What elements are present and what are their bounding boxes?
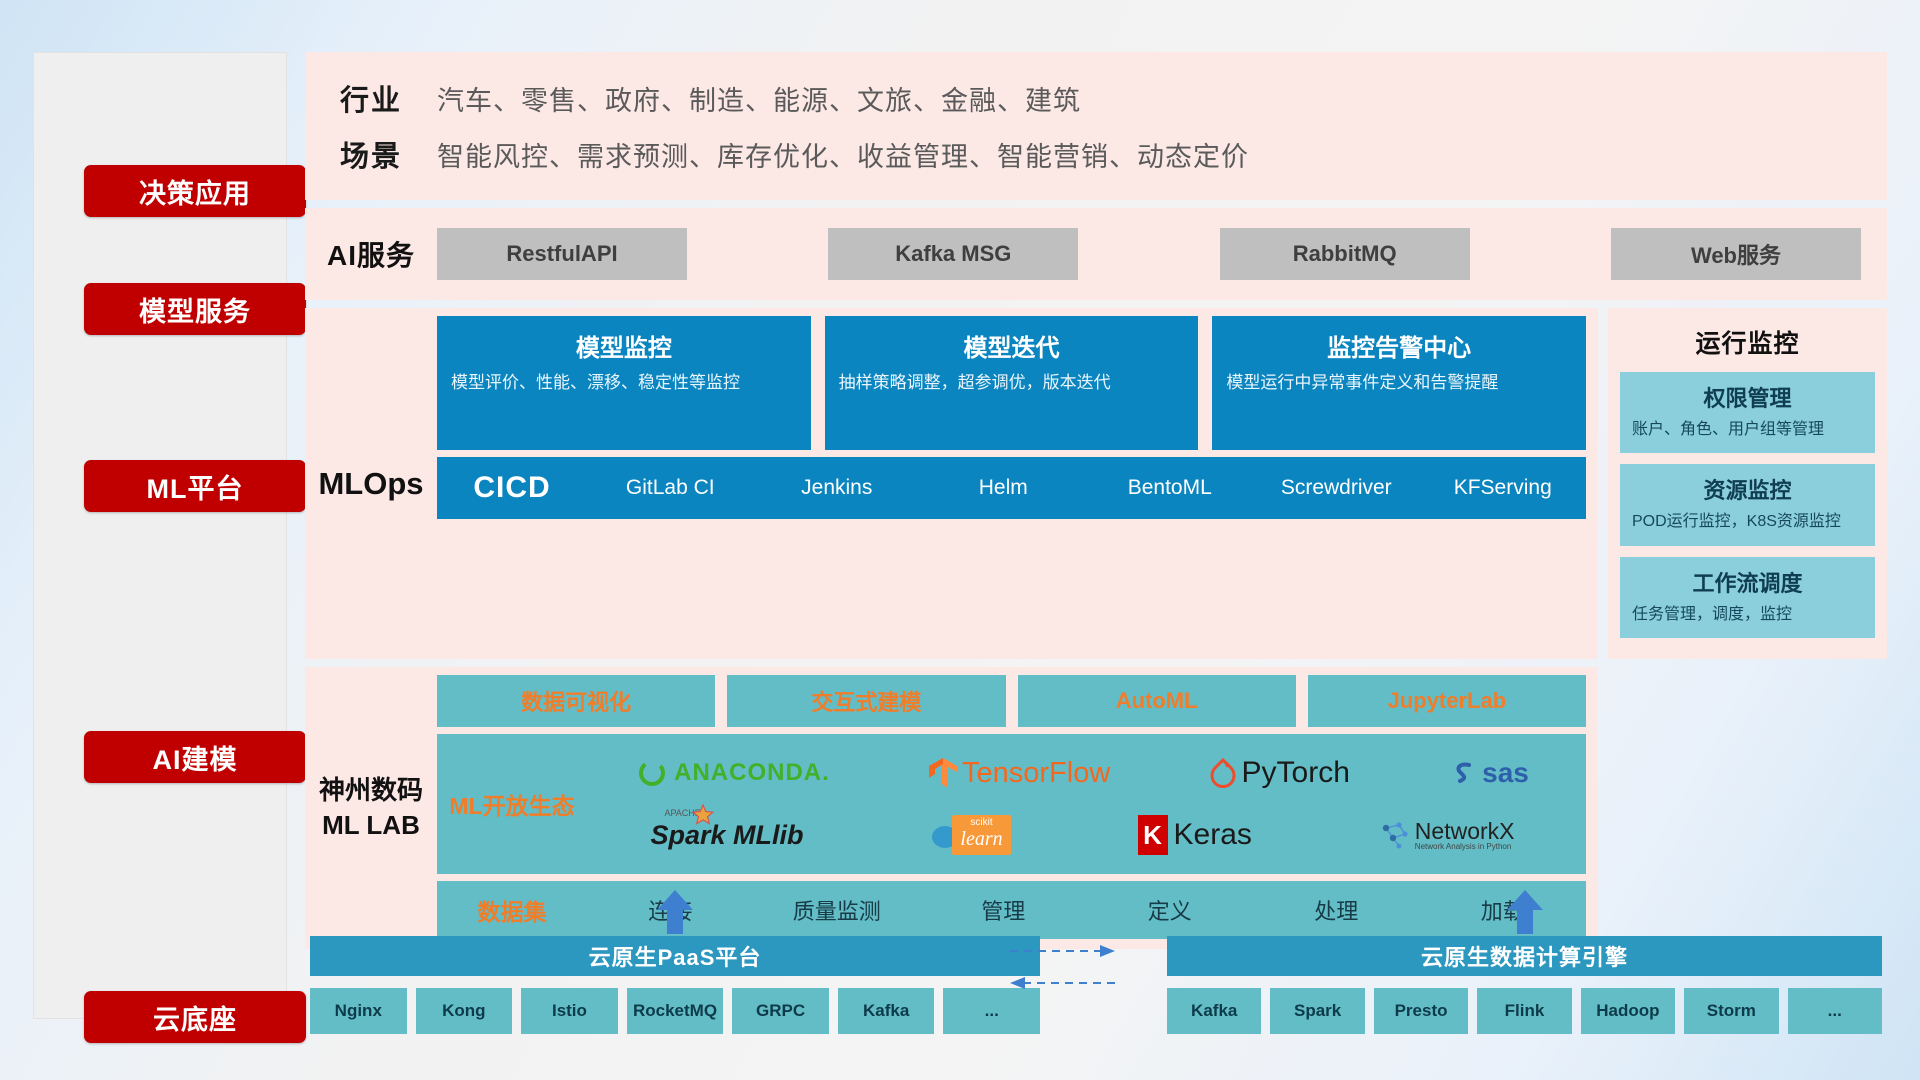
card-desc: 模型评价、性能、漂移、稳定性等监控 (451, 371, 797, 396)
keras-logo: K Keras (1138, 815, 1252, 855)
cloud-data-engine-column: 云原生数据计算引擎 Kafka Spark Presto Flink Hadoo… (1167, 936, 1882, 1034)
ml-ecosystem-logos: ANACONDA. TensorFlow (587, 744, 1586, 864)
main-column: 行业 汽车、零售、政府、制造、能源、文旅、金融、建筑 场景 智能风控、需求预测、… (305, 52, 1887, 949)
networkx-text: NetworkX Network Analysis in Python (1415, 820, 1515, 851)
industry-row: 行业 汽车、零售、政府、制造、能源、文旅、金融、建筑 (305, 70, 1887, 126)
spark-star-icon (692, 804, 714, 826)
card-desc: 模型运行中异常事件定义和告警提醒 (1226, 371, 1572, 396)
scenario-value: 智能风控、需求预测、库存优化、收益管理、智能营销、动态定价 (437, 135, 1249, 174)
card-title: 权限管理 (1632, 381, 1863, 413)
layer-tag-cloud-base[interactable]: 云底座 (84, 991, 306, 1043)
scenario-key: 场景 (305, 133, 437, 175)
cloud-paas-chips: Nginx Kong Istio RocketMQ GRPC Kafka ... (310, 988, 1040, 1034)
spark-mllib-label: Spark MLlib (650, 820, 803, 851)
bidirectional-link (1010, 935, 1115, 995)
scenario-row: 场景 智能风控、需求预测、库存优化、收益管理、智能营销、动态定价 (305, 126, 1887, 182)
card-desc: 任务管理，调度，监控 (1632, 604, 1863, 626)
layer-tag-ml-platform[interactable]: ML平台 (84, 460, 306, 512)
ml-ecosystem-label: ML开放生态 (437, 787, 587, 821)
diagram-canvas: 决策应用 模型服务 ML平台 AI建模 云底座 行业 汽车、零售、政府、制造、能… (0, 0, 1920, 1080)
logo-row-2: APACHE Spark MLlib (587, 806, 1578, 864)
pytorch-logo: PyTorch (1209, 756, 1350, 790)
chip-kafka-right[interactable]: Kafka (1167, 988, 1261, 1034)
chip-nginx[interactable]: Nginx (310, 988, 407, 1034)
chip-grpc[interactable]: GRPC (732, 988, 829, 1034)
scikit-learn-logo: scikit learn (930, 815, 1010, 855)
industry-value: 汽车、零售、政府、制造、能源、文旅、金融、建筑 (437, 79, 1081, 118)
chip-kong[interactable]: Kong (416, 988, 513, 1034)
mlops-band: MLOps 模型监控 模型评价、性能、漂移、稳定性等监控 模型迭代 抽样策略调整… (305, 308, 1598, 659)
card-title: 工作流调度 (1632, 566, 1863, 598)
chip-istio[interactable]: Istio (521, 988, 618, 1034)
cicd-tool-bentoml[interactable]: BentoML (1087, 475, 1254, 501)
card-desc: 账户、角色、用户组等管理 (1632, 419, 1863, 441)
arrow-up-right (1505, 890, 1545, 934)
mlops-monitor-row: MLOps 模型监控 模型评价、性能、漂移、稳定性等监控 模型迭代 抽样策略调整… (305, 308, 1887, 659)
networkx-sublabel: Network Analysis in Python (1415, 843, 1515, 851)
ai-service-key: AI服务 (305, 234, 437, 274)
layer-tag-label: AI建模 (153, 738, 238, 777)
layer-tag-model-service[interactable]: 模型服务 (84, 283, 306, 335)
card-title: 模型监控 (451, 328, 797, 363)
tool-automl[interactable]: AutoML (1018, 675, 1296, 727)
logo-row-1: ANACONDA. TensorFlow (587, 744, 1578, 802)
cicd-tool-helm[interactable]: Helm (920, 475, 1087, 501)
scikit-orange-blob: scikit learn (952, 815, 1010, 855)
layer-tag-decision[interactable]: 决策应用 (84, 165, 306, 217)
ai-service-button-kafka[interactable]: Kafka MSG (828, 228, 1078, 280)
layer-label-rail: 决策应用 模型服务 ML平台 AI建模 云底座 (33, 52, 287, 1019)
keras-icon: K (1138, 815, 1168, 855)
monitor-card-resource[interactable]: 资源监控 POD运行监控，K8S资源监控 (1620, 464, 1875, 545)
ml-lab-tools: 数据可视化 交互式建模 AutoML JupyterLab (437, 675, 1586, 727)
mlops-cards: 模型监控 模型评价、性能、漂移、稳定性等监控 模型迭代 抽样策略调整，超参调优，… (437, 316, 1586, 450)
cloud-data-engine-bar[interactable]: 云原生数据计算引擎 (1167, 936, 1882, 976)
tool-jupyterlab[interactable]: JupyterLab (1308, 675, 1586, 727)
scikit-label: scikit (960, 817, 1002, 828)
layer-tag-ai-modeling[interactable]: AI建模 (84, 731, 306, 783)
ai-service-button-web[interactable]: Web服务 (1611, 228, 1861, 280)
industry-scenario-band: 行业 汽车、零售、政府、制造、能源、文旅、金融、建筑 场景 智能风控、需求预测、… (305, 52, 1887, 200)
ai-service-button-restful[interactable]: RestfulAPI (437, 228, 687, 280)
mlops-key: MLOps (305, 308, 437, 659)
tensorflow-icon (928, 756, 958, 790)
card-desc: POD运行监控，K8S资源监控 (1632, 511, 1863, 533)
cicd-tool-gitlab[interactable]: GitLab CI (587, 475, 754, 501)
chip-flink[interactable]: Flink (1477, 988, 1571, 1034)
card-title: 模型迭代 (839, 328, 1185, 363)
cloud-paas-column: 云原生PaaS平台 Nginx Kong Istio RocketMQ GRPC… (310, 936, 1040, 1034)
tool-data-visualization[interactable]: 数据可视化 (437, 675, 715, 727)
networkx-label: NetworkX (1415, 820, 1515, 843)
learn-label: learn (960, 828, 1002, 851)
arrow-up-left (655, 890, 695, 934)
anaconda-logo: ANACONDA. (636, 757, 830, 789)
spark-mllib-logo: APACHE Spark MLlib (650, 820, 803, 851)
cicd-tool-kfserving[interactable]: KFServing (1420, 475, 1587, 501)
keras-label: Keras (1174, 818, 1252, 852)
layer-tag-label: 云底座 (153, 998, 237, 1037)
mlops-card-model-monitor[interactable]: 模型监控 模型评价、性能、漂移、稳定性等监控 (437, 316, 811, 450)
chip-kafka-left[interactable]: Kafka (838, 988, 935, 1034)
layer-tag-label: 模型服务 (139, 290, 251, 329)
mlops-card-alert-center[interactable]: 监控告警中心 模型运行中异常事件定义和告警提醒 (1212, 316, 1586, 450)
cicd-tools: GitLab CI Jenkins Helm BentoML Screwdriv… (587, 475, 1586, 501)
ai-service-band: AI服务 RestfulAPI Kafka MSG RabbitMQ Web服务 (305, 208, 1887, 300)
runtime-monitor-title: 运行监控 (1620, 324, 1875, 360)
tool-interactive-modeling[interactable]: 交互式建模 (727, 675, 1005, 727)
tensorflow-label: TensorFlow (962, 757, 1110, 790)
chip-presto[interactable]: Presto (1374, 988, 1468, 1034)
ai-service-buttons: RestfulAPI Kafka MSG RabbitMQ Web服务 (437, 228, 1887, 280)
monitor-card-workflow[interactable]: 工作流调度 任务管理，调度，监控 (1620, 557, 1875, 638)
cicd-label: CICD (437, 471, 587, 505)
tensorflow-logo: TensorFlow (928, 756, 1110, 790)
pytorch-label: PyTorch (1242, 756, 1350, 790)
networkx-logo: NetworkX Network Analysis in Python (1379, 820, 1515, 851)
ai-service-button-rabbitmq[interactable]: RabbitMQ (1220, 228, 1470, 280)
anaconda-label: ANACONDA. (674, 759, 830, 787)
chip-hadoop[interactable]: Hadoop (1581, 988, 1675, 1034)
mlops-body: 模型监控 模型评价、性能、漂移、稳定性等监控 模型迭代 抽样策略调整，超参调优，… (437, 308, 1598, 659)
chip-storm[interactable]: Storm (1684, 988, 1778, 1034)
anaconda-icon (636, 757, 668, 789)
sas-label: sas (1482, 757, 1529, 789)
layer-tag-label: ML平台 (147, 467, 244, 506)
industry-key: 行业 (305, 77, 437, 119)
networkx-icon (1379, 820, 1411, 850)
monitor-card-permission[interactable]: 权限管理 账户、角色、用户组等管理 (1620, 372, 1875, 453)
cloud-paas-bar[interactable]: 云原生PaaS平台 (310, 936, 1040, 976)
cicd-tool-screwdriver[interactable]: Screwdriver (1253, 475, 1420, 501)
chip-rocketmq[interactable]: RocketMQ (627, 988, 724, 1034)
ml-lab-key-line1: 神州数码 (319, 775, 423, 805)
layer-tag-label: 决策应用 (139, 172, 251, 211)
cicd-strip: CICD GitLab CI Jenkins Helm BentoML Scre… (437, 457, 1586, 519)
pytorch-icon (1209, 757, 1237, 789)
runtime-monitor-panel: 运行监控 权限管理 账户、角色、用户组等管理 资源监控 POD运行监控，K8S资… (1608, 308, 1887, 659)
cloud-data-engine-chips: Kafka Spark Presto Flink Hadoop Storm ..… (1167, 988, 1882, 1034)
cicd-tool-jenkins[interactable]: Jenkins (754, 475, 921, 501)
ml-ecosystem-strip: ML开放生态 ANACONDA. (437, 734, 1586, 874)
ml-lab-key-line2: ML LAB (322, 810, 420, 840)
mlops-card-model-iteration[interactable]: 模型迭代 抽样策略调整，超参调优，版本迭代 (825, 316, 1199, 450)
card-title: 资源监控 (1632, 473, 1863, 505)
card-title: 监控告警中心 (1226, 328, 1572, 363)
sas-icon (1448, 758, 1478, 788)
chip-spark[interactable]: Spark (1270, 988, 1364, 1034)
sas-logo: sas (1448, 757, 1529, 789)
chip-more-right[interactable]: ... (1788, 988, 1882, 1034)
card-desc: 抽样策略调整，超参调优，版本迭代 (839, 371, 1185, 396)
